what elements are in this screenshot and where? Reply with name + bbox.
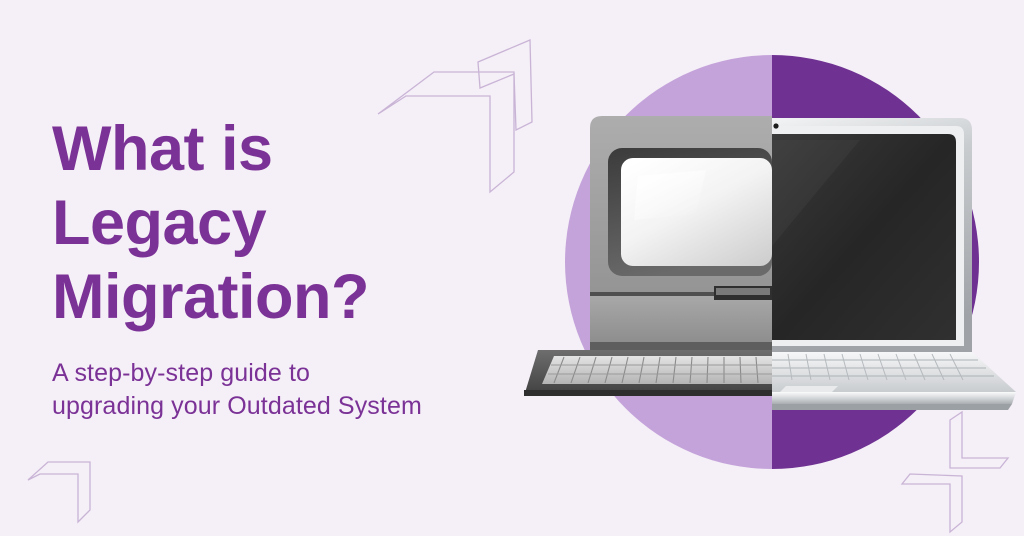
- page-title: What is Legacy Migration?: [52, 112, 552, 334]
- legacy-keyboard: [524, 350, 772, 396]
- page-subtitle: A step-by-step guide to upgrading your O…: [52, 334, 552, 423]
- banner-root: What is Legacy Migration? A step-by-step…: [0, 0, 1024, 536]
- text-block: What is Legacy Migration? A step-by-step…: [52, 112, 552, 423]
- modern-laptop-base: [772, 352, 1016, 410]
- arrow-outline-bottom-left: [22, 442, 132, 536]
- modern-laptop-computer: [772, 118, 972, 352]
- computer-illustration: [520, 0, 1024, 536]
- legacy-crt-computer: [590, 116, 772, 352]
